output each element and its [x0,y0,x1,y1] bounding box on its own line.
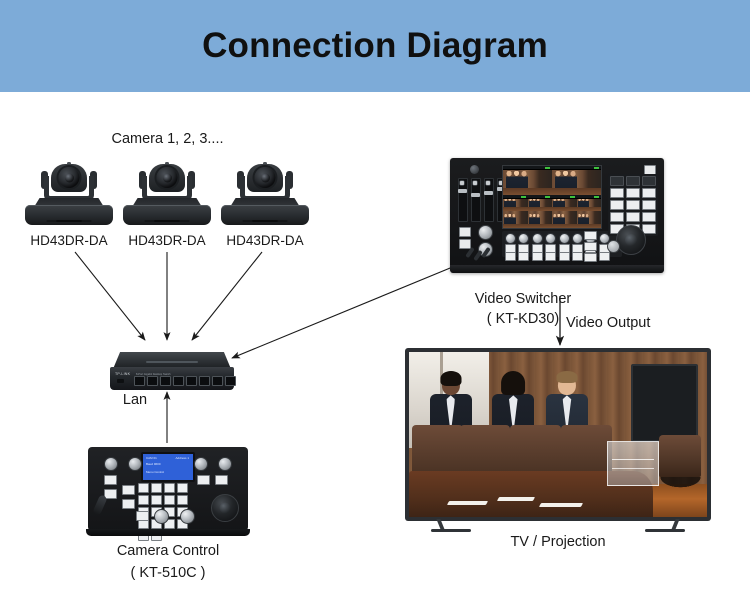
fader-group[interactable] [458,178,507,222]
camera-control-button[interactable] [122,499,135,509]
video-switcher-label: Video Switcher [443,290,603,310]
switcher-keypad-key[interactable] [642,200,656,210]
switcher-chassis-base [450,265,664,273]
switcher-source-button[interactable] [518,252,529,261]
switcher-function-button[interactable] [459,239,471,249]
lan-port[interactable] [173,376,184,386]
camera-control-dial[interactable] [180,509,195,524]
switcher-source-button[interactable] [505,252,516,261]
lan-switch-brand: TP-LINK [115,372,130,376]
audio-fader[interactable] [458,178,468,222]
lcd-line-1: CAM 01 [146,457,157,460]
tv-bezel [405,348,711,521]
lan-port[interactable] [186,376,197,386]
switcher-keypad-key[interactable] [626,188,640,198]
tv-scene-display-case [607,441,660,486]
camera-yoke [44,176,94,201]
switcher-keypad-key[interactable] [610,200,624,210]
lan-switch-device[interactable]: TP-LINK 8-Port Gigabit Desktop Switch [110,352,234,390]
switcher-transition-button[interactable] [584,242,597,251]
camera-control-key[interactable] [138,495,149,505]
audio-fader[interactable] [484,178,494,222]
switcher-knob[interactable] [532,233,543,244]
multiview-row-mid [503,195,601,211]
lan-switch-front: TP-LINK 8-Port Gigabit Desktop Switch [110,367,234,390]
camera-control-button[interactable] [122,485,135,495]
lan-port[interactable] [212,376,223,386]
camera-label-3: HD43DR-DA [206,232,324,250]
switcher-knob[interactable] [559,233,570,244]
lcd-line-4: Menu Control [146,471,164,474]
lcd-line-2: Address 1 [175,457,189,460]
switcher-keypad-key[interactable] [626,212,640,222]
switcher-audio-section[interactable] [456,165,498,257]
camera-control-knob[interactable] [104,457,118,471]
multiview-pane[interactable] [503,211,528,228]
camera-base [221,205,309,225]
tv-label: TV / Projection [478,533,638,553]
video-output-label: Video Output [566,314,676,334]
audio-monitor-knob[interactable] [470,165,479,174]
switcher-transition-button[interactable] [584,253,597,262]
camera-control-knob[interactable] [218,457,232,471]
camera-control-button[interactable] [197,475,210,485]
switcher-keypad-key[interactable] [642,188,656,198]
camera-device-1[interactable] [25,163,113,225]
camera-device-3[interactable] [221,163,309,225]
switcher-keypad-key[interactable] [626,176,640,186]
tv-screen[interactable] [409,352,707,517]
camera-control-model: ( KT-510C ) [88,564,248,584]
camera-control-label: Camera Control [88,542,248,562]
multiview-pane[interactable] [528,211,553,228]
camera-control-button[interactable] [215,475,228,485]
multiview-pane[interactable] [528,195,553,211]
tv-scene-paper [539,503,583,507]
camera-control-key[interactable] [177,495,188,505]
multiview-pane[interactable] [577,195,602,211]
power-led-icon [117,379,124,383]
multiview-pane[interactable] [503,195,528,211]
multiview-pane[interactable] [577,211,602,228]
lcd-line-3: Baud 9600 [146,463,161,466]
page-title: Connection Diagram [0,0,750,92]
camera-control-base [86,529,250,536]
lan-port-group[interactable] [134,376,236,386]
switcher-keypad-key[interactable] [610,188,624,198]
camera-control-key[interactable] [164,495,175,505]
multiview-pane[interactable] [552,211,577,228]
camera-control-key[interactable] [151,483,162,493]
multiview-pane[interactable] [552,166,601,195]
switcher-transition-buttons[interactable] [584,231,600,264]
tv-stand-right [627,519,685,532]
switcher-keypad-key[interactable] [626,200,640,210]
switcher-keypad-section[interactable] [606,165,658,257]
switcher-function-button[interactable] [459,227,471,237]
camera-control-joystick[interactable] [211,494,239,522]
connection-diagram-page: Connection Diagram Camera 1, 2, 3.... [0,0,750,616]
camera-base [123,205,211,225]
switcher-source-button[interactable] [532,252,543,261]
tv-scene-wall-monitor [631,364,698,442]
video-switcher-device[interactable] [450,158,664,273]
switcher-source-button[interactable] [572,252,583,261]
multiview-row-top [503,166,601,195]
switcher-keypad-key[interactable] [642,212,656,222]
page-header: Connection Diagram [0,0,750,92]
lan-port[interactable] [160,376,171,386]
lan-port[interactable] [134,376,145,386]
tv-scene-paper [497,497,535,501]
camera-base [25,205,113,225]
switcher-knob[interactable] [545,233,556,244]
lan-port[interactable] [225,376,236,386]
cameras-group-label: Camera 1, 2, 3.... [60,130,275,150]
camera-control-enter-button[interactable] [136,511,149,521]
lan-port[interactable] [199,376,210,386]
camera-control-device[interactable]: CAM 01 Address 1 Baud 9600 Menu Control [88,447,248,531]
tv-scene-paper [447,501,488,505]
lan-switch-label: Lan [100,391,170,411]
camera-control-key[interactable] [138,483,149,493]
camera-control-knob[interactable] [194,457,208,471]
camera-control-key[interactable] [177,483,188,493]
camera-control-button[interactable] [104,475,117,485]
switcher-knob[interactable] [505,233,516,244]
switcher-keypad-key[interactable] [610,212,624,222]
multiview-row-bottom [503,211,601,228]
camera-control-key[interactable] [151,495,162,505]
switcher-knob[interactable] [518,233,529,244]
camera-control-lever[interactable] [92,494,107,516]
switcher-button-panel[interactable] [502,231,622,257]
switcher-rotary-knob[interactable] [478,225,493,240]
multiview-pane[interactable] [552,195,577,211]
tv-scene-chair [659,435,701,478]
camera-yoke [142,176,192,201]
camera-control-dial[interactable] [154,509,169,524]
switcher-speed-dial[interactable] [607,240,620,253]
switcher-knob[interactable] [572,233,583,244]
camera-control-key[interactable] [164,483,175,493]
lan-port[interactable] [147,376,158,386]
switcher-keypad-key[interactable] [610,176,624,186]
camera-yoke [240,176,290,201]
switcher-source-button[interactable] [559,252,570,261]
switcher-multiview-screen[interactable] [502,165,602,229]
multiview-pane[interactable] [503,166,552,195]
camera-control-knob[interactable] [128,457,142,471]
switcher-joystick[interactable] [616,225,646,255]
tv-display-device[interactable] [405,348,711,532]
audio-fader[interactable] [471,178,481,222]
switcher-transition-button[interactable] [584,231,597,240]
tv-stand-left [431,519,489,532]
switcher-keypad-key[interactable] [642,176,656,186]
camera-device-2[interactable] [123,163,211,225]
switcher-source-button[interactable] [545,252,556,261]
camera-control-lcd[interactable]: CAM 01 Address 1 Baud 9600 Menu Control [141,452,195,482]
